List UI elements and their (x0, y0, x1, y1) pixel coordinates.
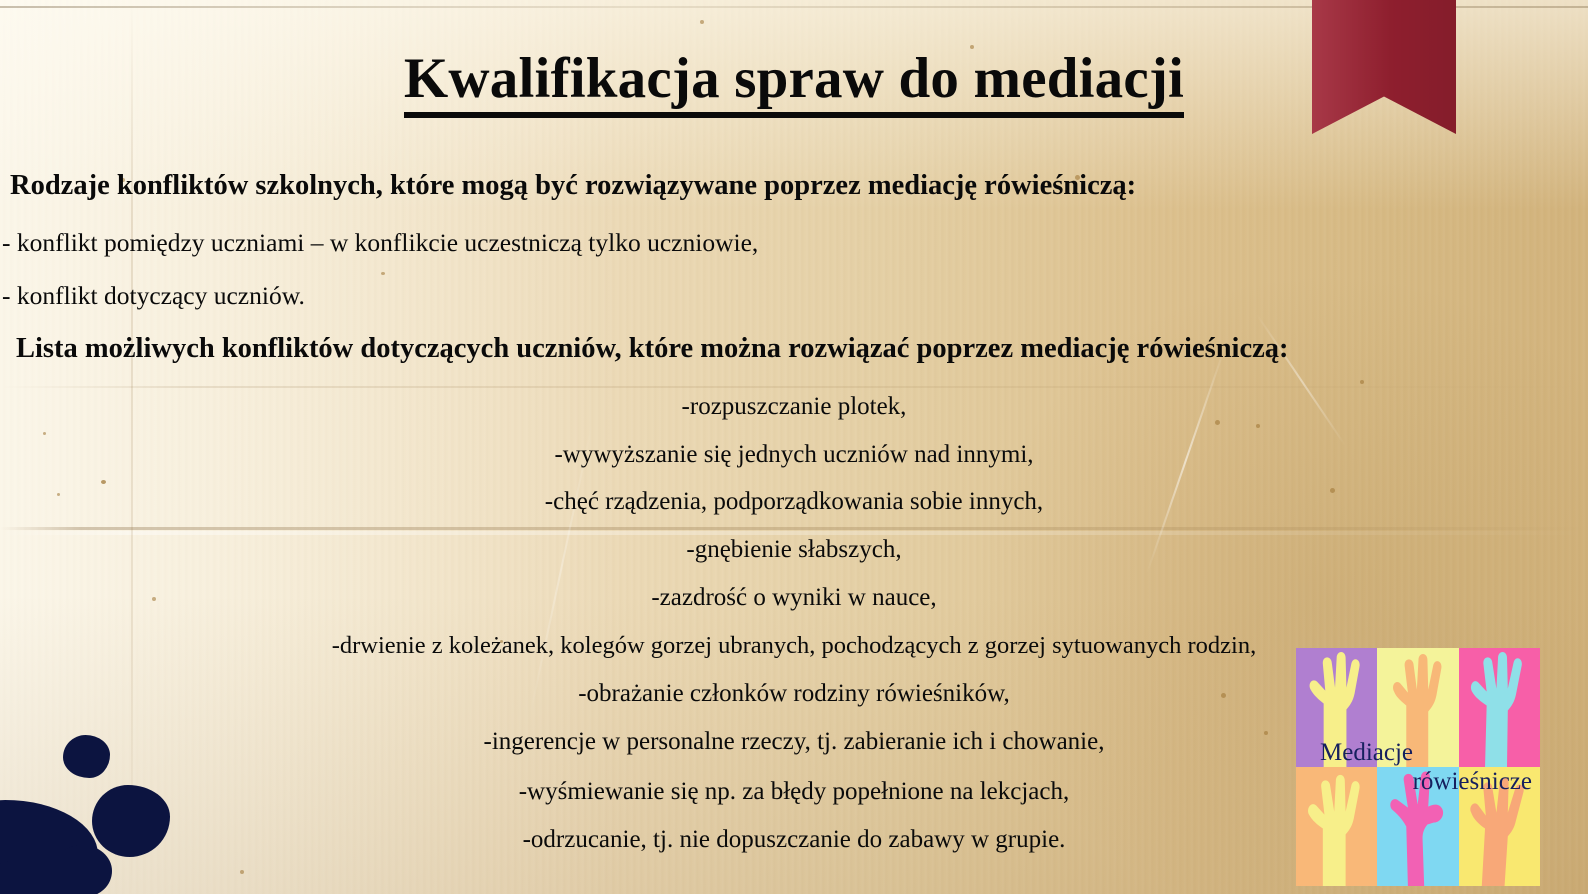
raised-hand-icon (1459, 648, 1540, 767)
paper-speck (43, 432, 46, 435)
logo-panel-3 (1459, 648, 1540, 767)
list-item: -chęć rządzenia, podporządkowania sobie … (0, 487, 1588, 517)
paper-speck (700, 20, 704, 24)
bullet-item-conflict-concerning-students: - konflikt dotyczący uczniów. (0, 281, 305, 312)
paper-speck (1360, 380, 1364, 384)
raised-hand-icon (1377, 648, 1458, 767)
paper-speck (1256, 424, 1260, 428)
paper-speck (101, 480, 106, 484)
logo-panel-5 (1377, 767, 1458, 886)
logo-panel-2 (1377, 648, 1458, 767)
list-item: -gnębienie słabszych, (0, 535, 1588, 565)
logo-panel-4 (1296, 767, 1377, 886)
list-item: -zazdrość o wyniki w nauce, (0, 583, 1588, 613)
raised-hand-icon (1296, 648, 1377, 767)
section-heading-kinds-of-conflicts: Rodzaje konfliktów szkolnych, które mogą… (0, 170, 1588, 203)
mediacje-rowiesnicze-logo: Mediacje rówieśnicze (1296, 648, 1540, 886)
raised-hand-icon (1377, 767, 1458, 886)
slide-title: Kwalifikacja spraw do mediacji (0, 48, 1588, 118)
list-item: -wywyższanie się jednych uczniów nad inn… (0, 440, 1588, 470)
list-item: -rozpuszczanie plotek, (0, 392, 1588, 422)
bullet-item-conflict-between-students: - konflikt pomiędzy uczniami – w konflik… (0, 228, 758, 259)
raised-hand-icon (1296, 767, 1377, 886)
section-heading-list-of-conflicts: Lista możliwych konfliktów dotyczących u… (0, 333, 1588, 366)
logo-panel-1 (1296, 648, 1377, 767)
slide-canvas: Kwalifikacja spraw do mediacji Rodzaje k… (0, 0, 1588, 894)
logo-panel-6 (1459, 767, 1540, 886)
raised-hand-icon (1459, 767, 1540, 886)
paper-speck (381, 272, 385, 275)
paper-speck (240, 870, 244, 874)
slide-title-text: Kwalifikacja spraw do mediacji (404, 48, 1184, 118)
